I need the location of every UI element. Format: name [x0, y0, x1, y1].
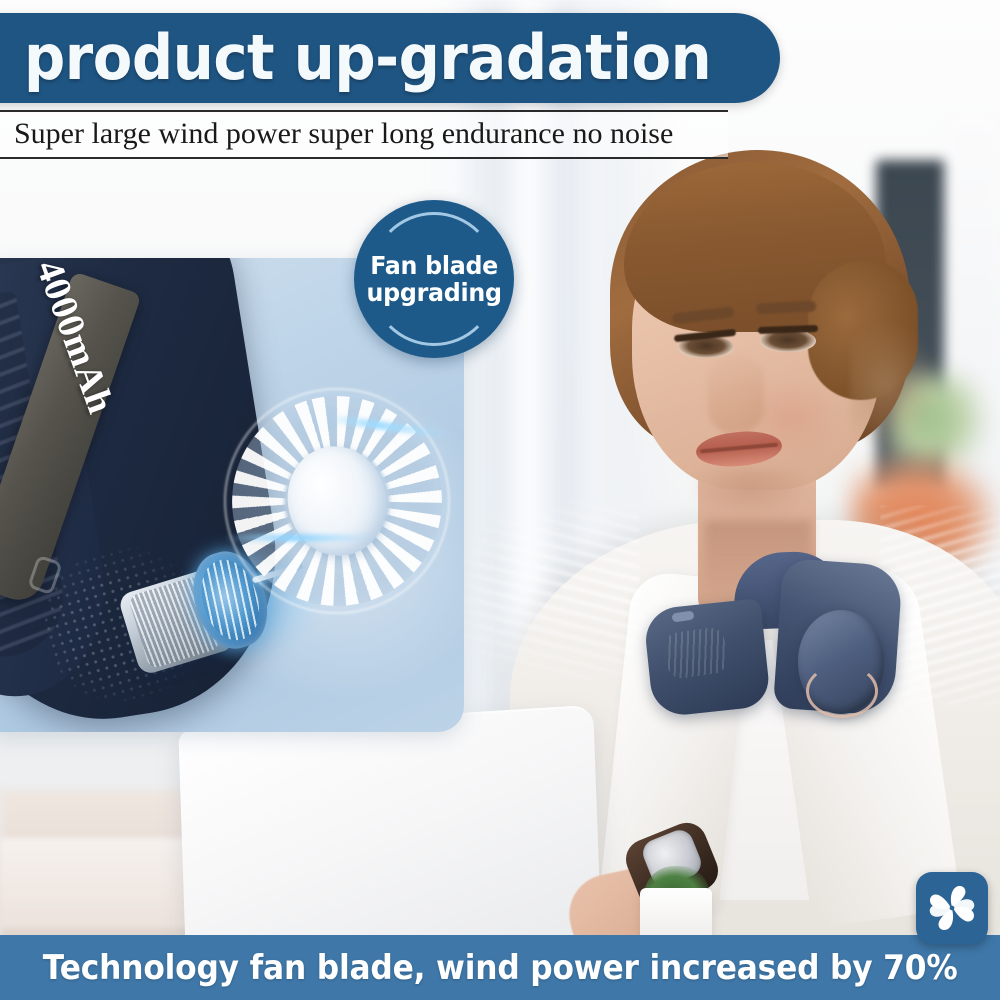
fan-blade-icon: [924, 880, 980, 936]
nose: [708, 356, 764, 434]
badge-line-1: Fan blade: [370, 251, 498, 280]
neck-fan-vent: [663, 626, 729, 680]
page-title: product up-gradation: [24, 27, 711, 89]
worn-neck-fan: [648, 552, 898, 712]
subtitle-text: Super large wind power super long endura…: [14, 118, 728, 150]
neck-fan-pod-ring: [806, 664, 878, 718]
hair-wisps: [850, 320, 940, 450]
bottom-banner-text: Technology fan blade, wind power increas…: [43, 948, 958, 988]
laptop-lid: [178, 705, 602, 956]
laptop: [170, 700, 650, 970]
badge-line-2: upgrading: [366, 278, 501, 307]
header-banner: product up-gradation: [0, 13, 780, 103]
chin-shadow: [690, 468, 810, 518]
turbine-light-streak-bottom: [224, 534, 374, 541]
promo-banner-stage: 4000mAh Fan blade upgrading product up-g…: [0, 0, 1000, 1000]
bottom-banner: Technology fan blade, wind power increas…: [0, 935, 1000, 1000]
fan-blade-upgrading-badge: Fan blade upgrading: [354, 200, 514, 358]
fan-logo-badge: [916, 872, 988, 944]
forearm: [936, 169, 1000, 380]
subtitle-block: Super large wind power super long endura…: [0, 110, 728, 159]
badge-label: Fan blade upgrading: [366, 252, 501, 307]
